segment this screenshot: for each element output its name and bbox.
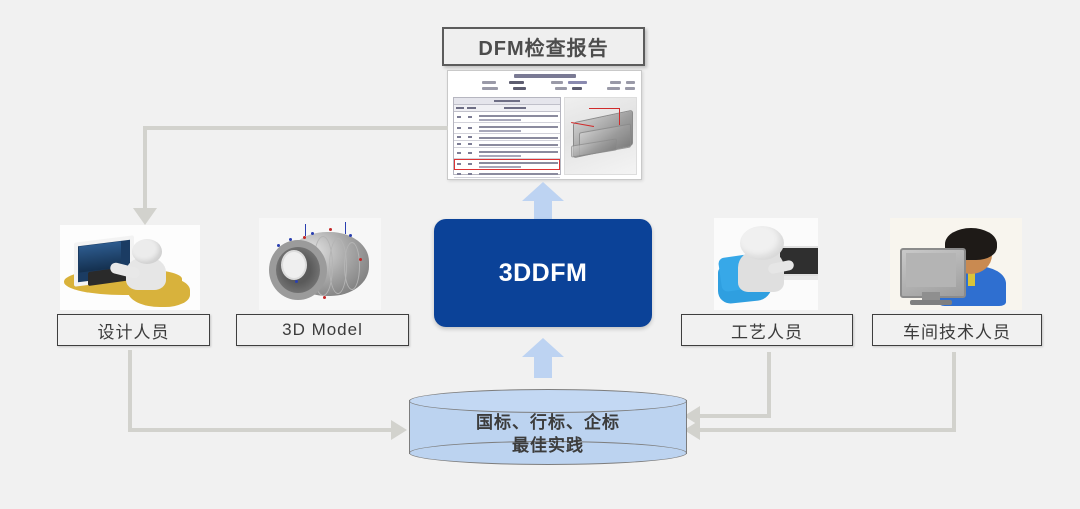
cad-annotation-point [277, 244, 280, 247]
report-field [568, 81, 587, 84]
connector-tech-to-repository-h [700, 428, 956, 432]
report-field [607, 87, 621, 90]
cad-annotation-point [295, 280, 298, 283]
table-row [454, 134, 560, 141]
person-head [740, 226, 784, 260]
report-header [454, 74, 635, 92]
table-row [454, 141, 560, 148]
cylinder-top [409, 389, 687, 413]
monitor-screen [906, 253, 956, 287]
report-field [626, 81, 635, 84]
cad-annotation-point [303, 236, 306, 239]
report-3d-preview [564, 97, 637, 175]
dfm-report-thumbnail [447, 70, 642, 180]
cad-annotation-point [323, 296, 326, 299]
cad-model-image [259, 218, 381, 310]
cad-annotation-point [329, 228, 332, 231]
cad-rib [344, 242, 360, 290]
table-row [454, 112, 560, 123]
node-label-workshop-technician[interactable]: 车间技术人员 [872, 314, 1042, 346]
report-field [572, 87, 582, 90]
node-label-3d-model-text: 3D Model [282, 320, 363, 340]
repository-label-line1: 国标、行标、企标 [409, 411, 687, 434]
cad-annotation-point [359, 258, 362, 261]
table-row [454, 170, 560, 178]
node-label-designer-text: 设计人员 [98, 318, 170, 343]
table-row [454, 178, 560, 180]
table-row-highlighted [454, 159, 560, 170]
report-field [513, 87, 527, 90]
connector-designer-to-repository-h [128, 428, 393, 432]
report-mini-title [514, 74, 576, 78]
designer-at-desk-image [60, 225, 200, 310]
report-field [555, 87, 567, 90]
table-row [454, 123, 560, 134]
person-head [132, 239, 162, 264]
table-subheader-band [454, 105, 560, 112]
process-engineer-image [714, 218, 818, 310]
node-label-3d-model[interactable]: 3D Model [236, 314, 409, 346]
arrow-core-to-report [522, 182, 564, 222]
cad-annotation-point [311, 232, 314, 235]
report-field [551, 81, 563, 84]
report-table [453, 97, 561, 175]
node-label-designer[interactable]: 设计人员 [57, 314, 210, 346]
arrowhead-right-repository [391, 420, 407, 440]
standards-repository-cylinder[interactable]: 国标、行标、企标 最佳实践 [409, 389, 687, 465]
connector-tech-to-repository-v [952, 352, 956, 432]
table-header-band [454, 98, 560, 105]
connector-process-to-repository-h [700, 414, 771, 418]
node-label-process-engineer-text: 工艺人员 [731, 318, 803, 343]
connector-report-to-designer-h [143, 126, 448, 130]
workshop-technician-image [890, 218, 1022, 310]
report-field [625, 87, 635, 90]
cad-annotation-point [349, 234, 352, 237]
arrow-repository-to-core [522, 338, 564, 378]
node-label-workshop-technician-text: 车间技术人员 [903, 318, 1011, 343]
report-field [482, 87, 498, 90]
connector-report-to-designer-v [143, 126, 147, 210]
cad-annotation-point [289, 238, 292, 241]
report-field [482, 81, 496, 84]
table-row [454, 148, 560, 159]
annotation-callout [589, 108, 620, 125]
report-field [509, 81, 524, 84]
report-field [610, 81, 621, 84]
core-module-3ddfm[interactable]: 3DDFM [434, 219, 652, 327]
cad-bore [281, 250, 307, 280]
diagram-canvas: DFM检查报告 [0, 0, 1080, 509]
report-title-text: DFM检查报告 [478, 32, 608, 61]
core-module-label: 3DDFM [499, 259, 588, 288]
monitor-base [910, 300, 952, 305]
cad-leader-line [305, 224, 306, 236]
node-label-process-engineer[interactable]: 工艺人员 [681, 314, 853, 346]
repository-label: 国标、行标、企标 最佳实践 [409, 411, 687, 457]
connector-process-to-repository-v [767, 352, 771, 418]
report-title-box: DFM检查报告 [442, 27, 645, 66]
repository-label-line2: 最佳实践 [409, 434, 687, 457]
arrowhead-down-designer [133, 208, 157, 225]
connector-designer-to-repository-v [128, 350, 132, 432]
cad-leader-line [345, 222, 346, 234]
